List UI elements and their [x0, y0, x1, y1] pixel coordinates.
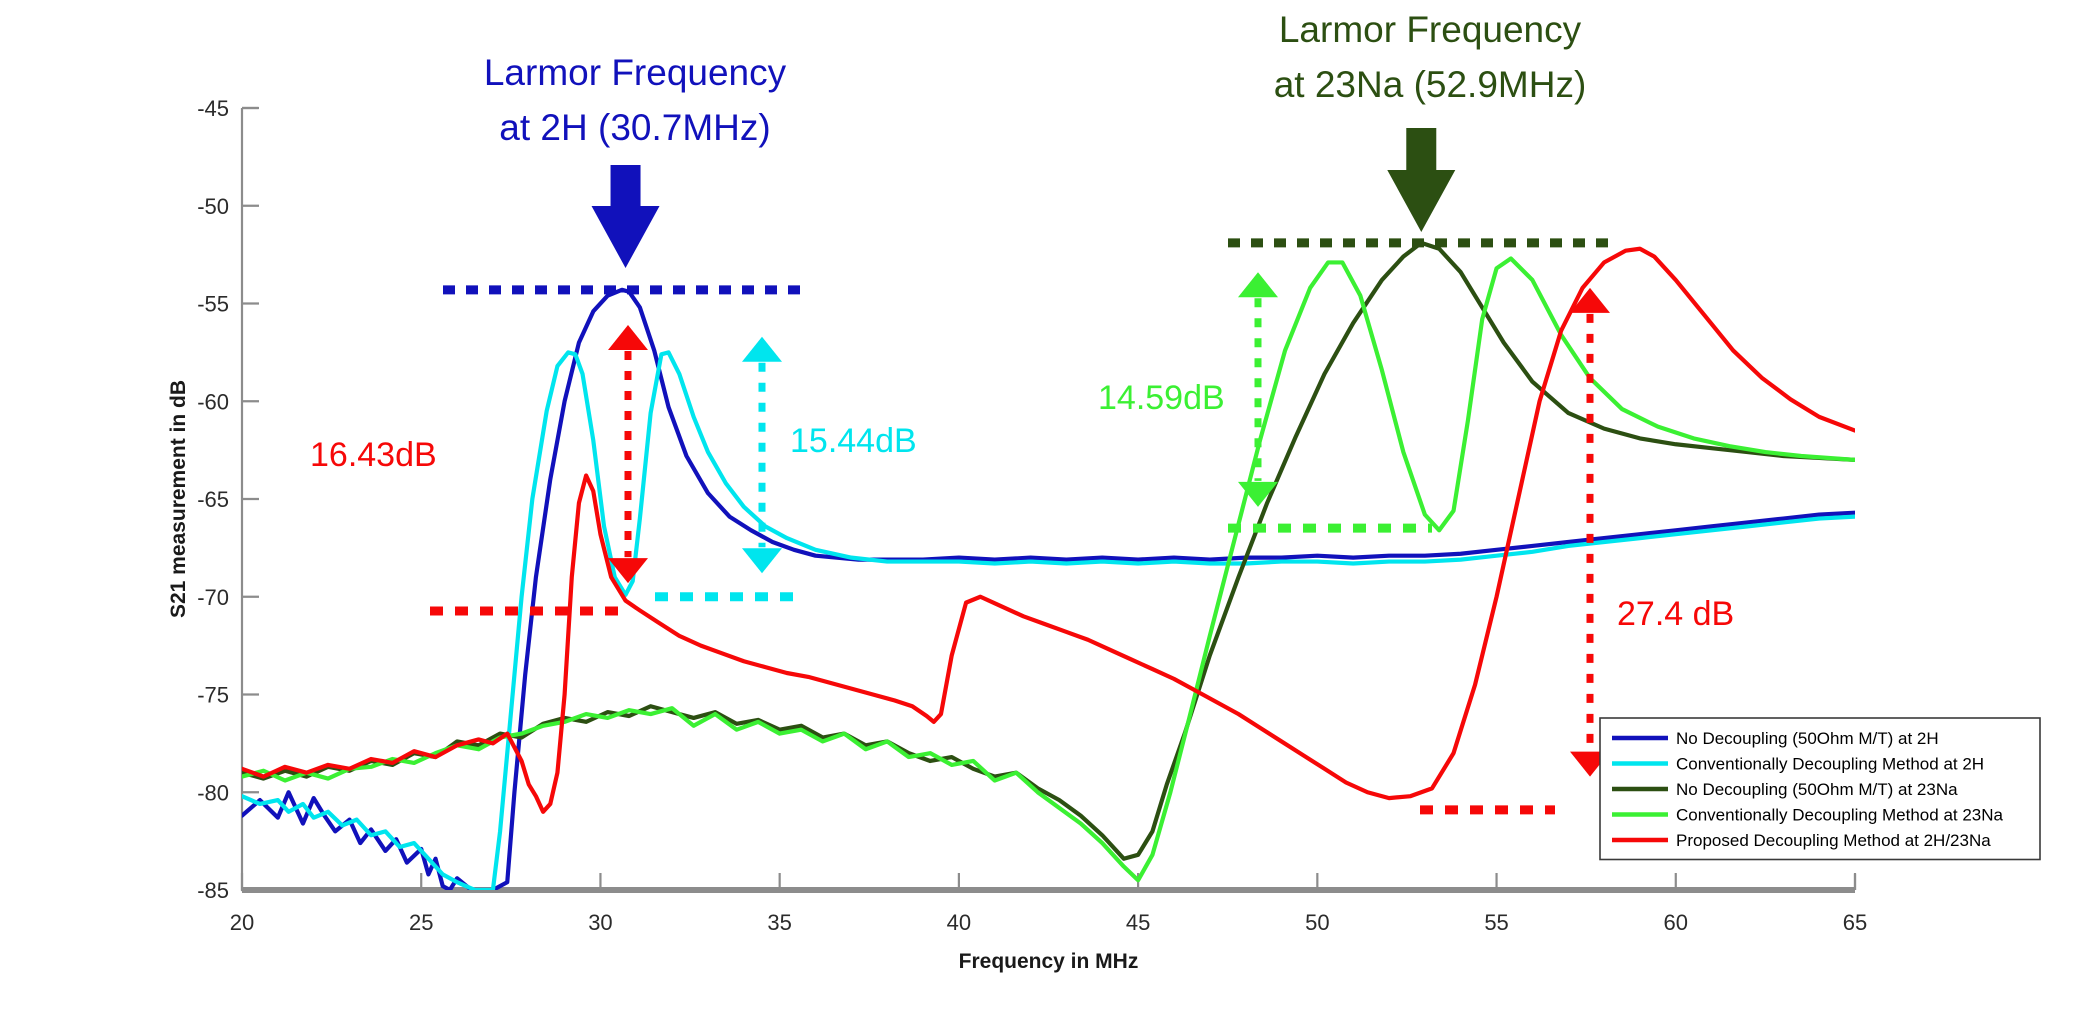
x-tick-label: 25 — [409, 910, 433, 935]
x-tick-label: 65 — [1843, 910, 1867, 935]
legend-label: No Decoupling (50Ohm M/T) at 2H — [1676, 729, 1939, 748]
arrow-head-up — [1238, 272, 1278, 297]
larmor-2h-label-line1: Larmor Frequency — [484, 52, 787, 93]
larmor-2h-label-line2: at 2H (30.7MHz) — [499, 107, 770, 148]
chart-figure: -45-50-55-60-65-70-75-80-852025303540455… — [0, 0, 2083, 1014]
y-tick-label: -45 — [197, 96, 229, 121]
x-tick-label: 55 — [1484, 910, 1508, 935]
legend-label: Conventionally Decoupling Method at 2H — [1676, 755, 1984, 774]
larmor-pointer-arrow — [1387, 128, 1455, 232]
larmor-pointer-arrow — [592, 165, 660, 268]
delta-15-44db-label: 15.44dB — [790, 422, 917, 460]
delta-16-43db-label: 16.43dB — [310, 436, 437, 474]
y-tick-label: -60 — [197, 389, 229, 414]
y-tick-label: -65 — [197, 487, 229, 512]
x-tick-label: 30 — [588, 910, 612, 935]
x-tick-label: 20 — [230, 910, 254, 935]
arrow-head-down — [742, 548, 782, 573]
delta-27-4db-label: 27.4 dB — [1617, 595, 1734, 633]
y-tick-label: -75 — [197, 683, 229, 708]
y-tick-label: -85 — [197, 878, 229, 903]
x-tick-label: 50 — [1305, 910, 1329, 935]
arrow-head-up — [608, 325, 648, 350]
arrow-head-up — [742, 337, 782, 362]
legend-label: Proposed Decoupling Method at 2H/23Na — [1676, 831, 1991, 850]
x-tick-label: 35 — [767, 910, 791, 935]
y-axis-title: S21 measurement in dB — [167, 380, 190, 618]
y-tick-label: -55 — [197, 292, 229, 317]
chart-legend: No Decoupling (50Ohm M/T) at 2HConventio… — [1600, 718, 2040, 860]
s21-measurement-chart: -45-50-55-60-65-70-75-80-852025303540455… — [0, 0, 2083, 1014]
y-tick-label: -50 — [197, 194, 229, 219]
y-tick-label: -80 — [197, 780, 229, 805]
legend-label: No Decoupling (50Ohm M/T) at 23Na — [1676, 780, 1958, 799]
x-tick-label: 60 — [1664, 910, 1688, 935]
delta-14-59db-label: 14.59dB — [1098, 379, 1225, 417]
x-tick-label: 40 — [947, 910, 971, 935]
x-axis-title: Frequency in MHz — [959, 950, 1139, 973]
legend-label: Conventionally Decoupling Method at 23Na — [1676, 806, 2004, 825]
x-tick-label: 45 — [1126, 910, 1150, 935]
larmor-23na-label-line1: Larmor Frequency — [1279, 9, 1582, 50]
larmor-23na-label-line2: at 23Na (52.9MHz) — [1274, 64, 1587, 105]
y-tick-label: -70 — [197, 585, 229, 610]
